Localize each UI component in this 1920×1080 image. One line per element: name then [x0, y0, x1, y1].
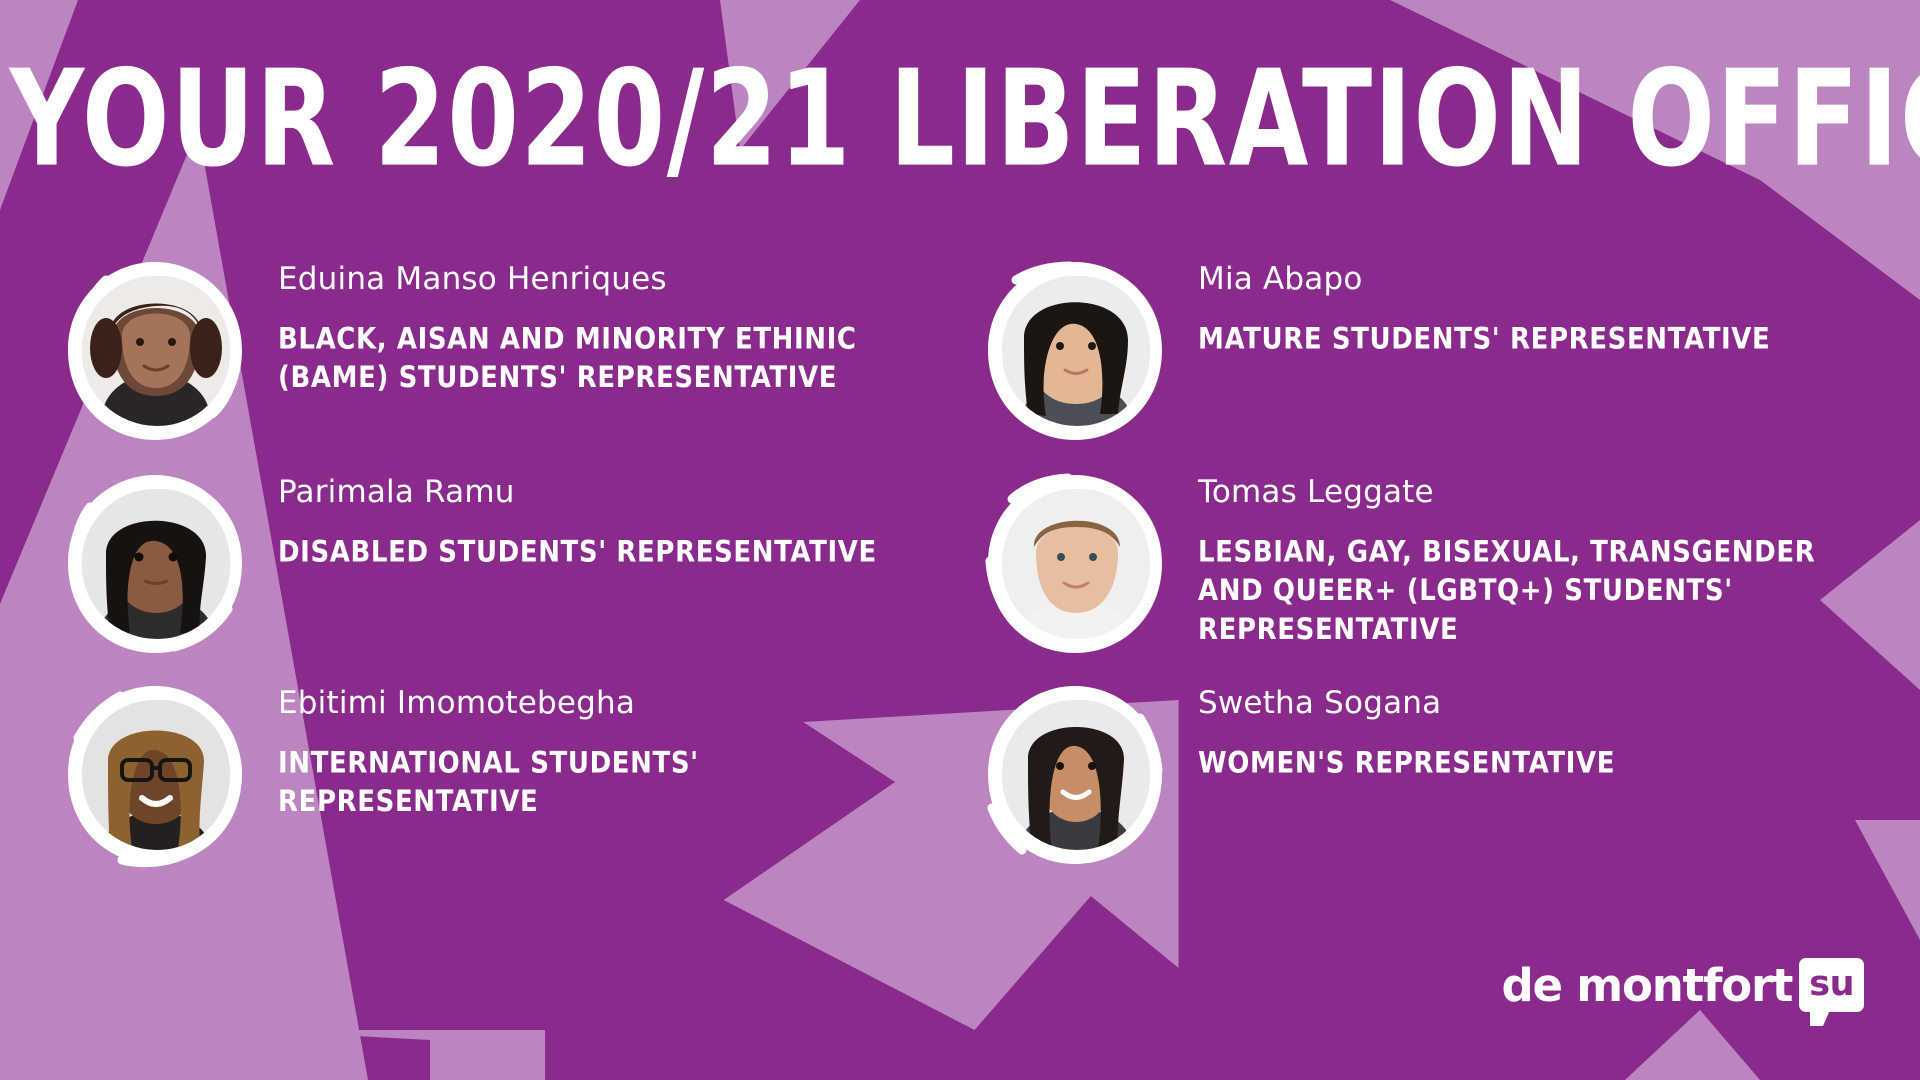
officers-grid: Eduina Manso Henriques BLACK, AISAN AND …: [0, 258, 1920, 898]
avatar: [62, 682, 248, 868]
officer-card: Eduina Manso Henriques BLACK, AISAN AND …: [62, 258, 992, 444]
liberation-officers-poster: YOUR 2020/21 LIBERATION OFFICERS: [0, 0, 1920, 1080]
avatar-photo: [1002, 489, 1150, 639]
officer-name: Parimala Ramu: [278, 477, 877, 508]
officer-role: INTERNATIONAL STUDENTS' REPRESENTATIVE: [278, 745, 938, 822]
officer-role: LESBIAN, GAY, BISEXUAL, TRANSGENDER AND …: [1198, 534, 1878, 650]
officer-card: Mia Abapo MATURE STUDENTS' REPRESENTATIV…: [982, 258, 1912, 444]
avatar-photo: [1002, 276, 1150, 426]
logo-wordmark: de montfort: [1502, 963, 1793, 1008]
officer-text: Ebitimi Imomotebegha INTERNATIONAL STUDE…: [248, 682, 938, 813]
avatar-photo: [1002, 700, 1150, 850]
officer-name: Ebitimi Imomotebegha: [278, 688, 938, 719]
officer-text: Swetha Sogana WOMEN'S REPRESENTATIVE: [1168, 682, 1615, 779]
avatar: [62, 258, 248, 444]
officer-card: Tomas Leggate LESBIAN, GAY, BISEXUAL, TR…: [982, 471, 1912, 657]
avatar: [982, 682, 1168, 868]
logo-su-badge: su: [1799, 958, 1864, 1012]
officer-card: Ebitimi Imomotebegha INTERNATIONAL STUDE…: [62, 682, 992, 868]
officer-role: MATURE STUDENTS' REPRESENTATIVE: [1198, 321, 1770, 360]
officer-text: Tomas Leggate LESBIAN, GAY, BISEXUAL, TR…: [1168, 471, 1878, 635]
avatar-photo: [82, 276, 230, 426]
officer-role: BLACK, AISAN AND MINORITY ETHINIC (BAME)…: [278, 321, 938, 398]
page-title: YOUR 2020/21 LIBERATION OFFICERS: [10, 52, 1911, 185]
officer-name: Mia Abapo: [1198, 264, 1770, 295]
officer-card: Parimala Ramu DISABLED STUDENTS' REPRESE…: [62, 471, 992, 657]
officer-text: Parimala Ramu DISABLED STUDENTS' REPRESE…: [248, 471, 877, 568]
officer-text: Mia Abapo MATURE STUDENTS' REPRESENTATIV…: [1168, 258, 1770, 355]
officer-text: Eduina Manso Henriques BLACK, AISAN AND …: [248, 258, 938, 389]
avatar: [62, 471, 248, 657]
officer-card: Swetha Sogana WOMEN'S REPRESENTATIVE: [982, 682, 1912, 868]
avatar-photo: [82, 700, 230, 850]
officer-name: Eduina Manso Henriques: [278, 264, 938, 295]
de-montfort-su-logo: de montfort su: [1502, 958, 1865, 1012]
avatar-photo: [82, 489, 230, 639]
officer-role: DISABLED STUDENTS' REPRESENTATIVE: [278, 534, 877, 573]
officer-name: Swetha Sogana: [1198, 688, 1615, 719]
page-title-text: YOUR 2020/21 LIBERATION OFFICERS: [10, 52, 1920, 185]
officer-role: WOMEN'S REPRESENTATIVE: [1198, 745, 1615, 784]
avatar: [982, 471, 1168, 657]
avatar: [982, 258, 1168, 444]
officer-name: Tomas Leggate: [1198, 477, 1878, 508]
